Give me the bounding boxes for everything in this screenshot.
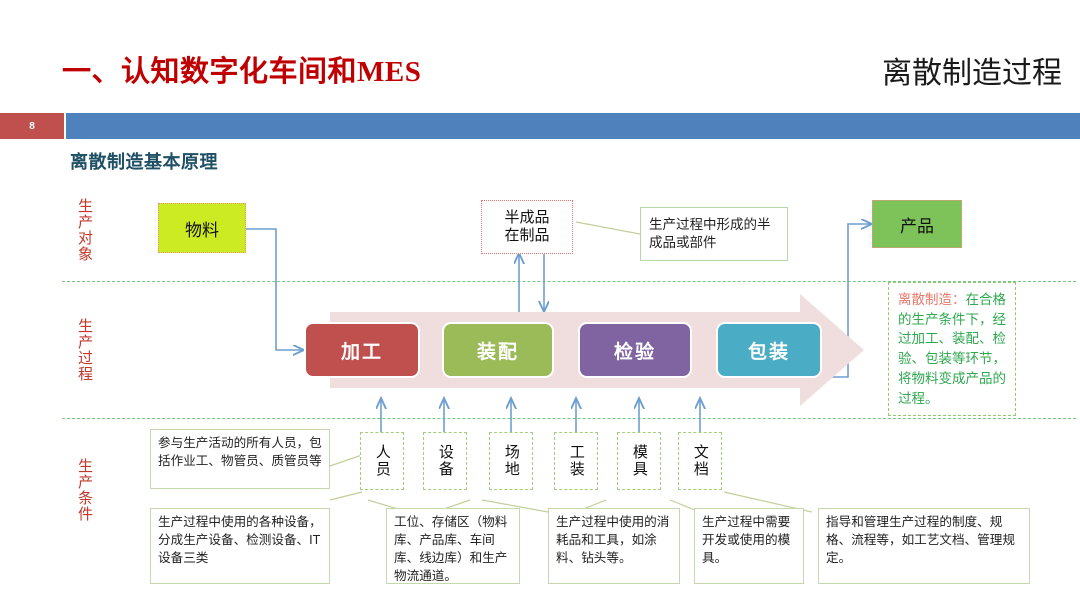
separator-process-condition (62, 418, 1076, 419)
row-label-production-process: 生产过程 (66, 310, 92, 390)
page-number-badge: 8 (0, 113, 64, 139)
stage-inspection[interactable]: 检验 (578, 322, 692, 378)
stage-assembly[interactable]: 装配 (442, 322, 554, 378)
semi-finished-line-1: 半成品 (504, 209, 549, 227)
stage-processing[interactable]: 加工 (304, 322, 420, 378)
box-material[interactable]: 物料 (158, 203, 246, 253)
condition-label-tooling[interactable]: 工装 (554, 432, 598, 490)
condition-desc-site: 工位、存储区（物料库、产品库、车间库、线边库）和生产物流通道。 (386, 508, 520, 584)
slide-section-title: 一、认知数字化车间和MES (62, 48, 421, 90)
box-product[interactable]: 产品 (872, 200, 962, 248)
condition-desc-equipment: 生产过程中使用的各种设备，分成生产设备、检测设备、IT设备三类 (150, 508, 330, 584)
definition-body: 在合格的生产条件下，经过加工、装配、检验、包装等环节，将物料变成产品的过程。 (898, 292, 1006, 406)
condition-label-document[interactable]: 文档 (678, 432, 722, 490)
stage-packaging[interactable]: 包装 (716, 322, 822, 378)
semi-finished-line-2: 在制品 (504, 227, 549, 245)
definition-lead: 离散制造： (898, 292, 966, 307)
condition-label-site[interactable]: 场地 (489, 432, 533, 490)
header-blue-bar (66, 113, 1080, 139)
page-title: 离散制造基本原理 (70, 148, 218, 174)
condition-desc-mold: 生产过程中需要开发或使用的模具。 (694, 508, 804, 584)
condition-label-equipment[interactable]: 设备 (423, 432, 467, 490)
slide-corner-title: 离散制造过程 (882, 48, 1062, 92)
box-semi-finished[interactable]: 半成品 在制品 (481, 200, 573, 254)
definition-callout: 离散制造：在合格的生产条件下，经过加工、装配、检验、包装等环节，将物料变成产品的… (888, 282, 1016, 416)
condition-label-mold[interactable]: 模具 (617, 432, 661, 490)
note-semi-finished: 生产过程中形成的半成品或部件 (640, 207, 788, 261)
row-label-production-object: 生产对象 (66, 190, 92, 270)
condition-label-personnel[interactable]: 人员 (360, 432, 404, 490)
condition-desc-personnel: 参与生产活动的所有人员，包括作业工、物管员、质管员等 (150, 429, 330, 489)
condition-desc-tooling: 生产过程中使用的消耗品和工具，如涂料、钻头等。 (548, 508, 680, 584)
condition-desc-document: 指导和管理生产过程的制度、规格、流程等，如工艺文档、管理规定。 (818, 508, 1030, 584)
row-label-production-condition: 生产条件 (66, 450, 92, 530)
